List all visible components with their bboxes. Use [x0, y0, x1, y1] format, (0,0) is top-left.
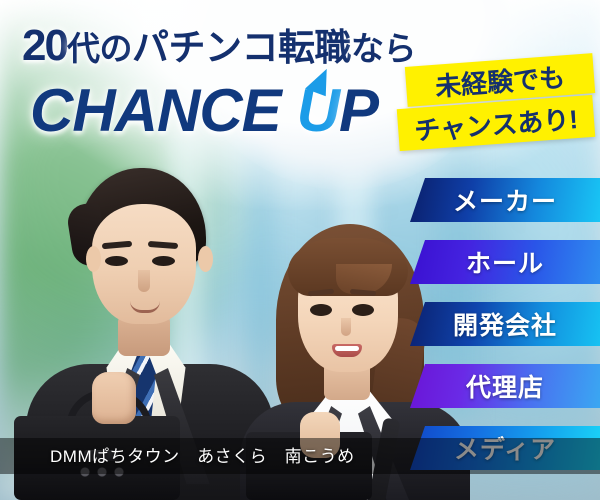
woman-bangs: [288, 238, 408, 296]
man-ear-right: [198, 246, 213, 272]
menu-item-label: 代理店: [466, 368, 544, 404]
headline-number: 20: [22, 21, 67, 70]
man-eye-left: [105, 256, 128, 266]
woman-nose: [341, 318, 351, 336]
man-ear-left: [86, 246, 101, 272]
menu-item-maker[interactable]: メーカー: [410, 178, 600, 222]
woman-eye-right: [352, 304, 374, 316]
chance-up-logo: CHANCEUP: [30, 76, 378, 145]
menu-item-development-company[interactable]: 開発会社: [410, 302, 600, 346]
menu-item-hall[interactable]: ホール: [410, 240, 600, 284]
man-nose: [138, 270, 150, 292]
menu-item-agency[interactable]: 代理店: [410, 364, 600, 408]
man-hand: [92, 372, 136, 424]
headline-mid: 代の: [67, 30, 132, 67]
menu-item-label: 開発会社: [453, 306, 557, 342]
woman-eye-left: [310, 304, 332, 316]
status-badge: 未経験でも チャンスあり!: [398, 56, 598, 156]
headline-main: パチンコ転職: [132, 27, 351, 68]
logo-word-chance: CHANCE: [30, 77, 281, 144]
logo-word-up: UP: [297, 77, 378, 144]
woman-mouth: [332, 344, 362, 357]
page-title: 20代のパチンコ転職なら: [22, 17, 416, 71]
menu-item-label: メーカー: [453, 182, 557, 218]
advertisement-banner[interactable]: 20代のパチンコ転職なら CHANCEUP 未経験でも チャンスあり! メーカー…: [0, 0, 600, 500]
caption-text: DMMぱちタウン あさくら 南こうめ: [50, 442, 355, 467]
menu-item-label: ホール: [466, 244, 544, 280]
logo-letter-p: P: [339, 77, 378, 144]
man-eye-right: [152, 256, 175, 266]
